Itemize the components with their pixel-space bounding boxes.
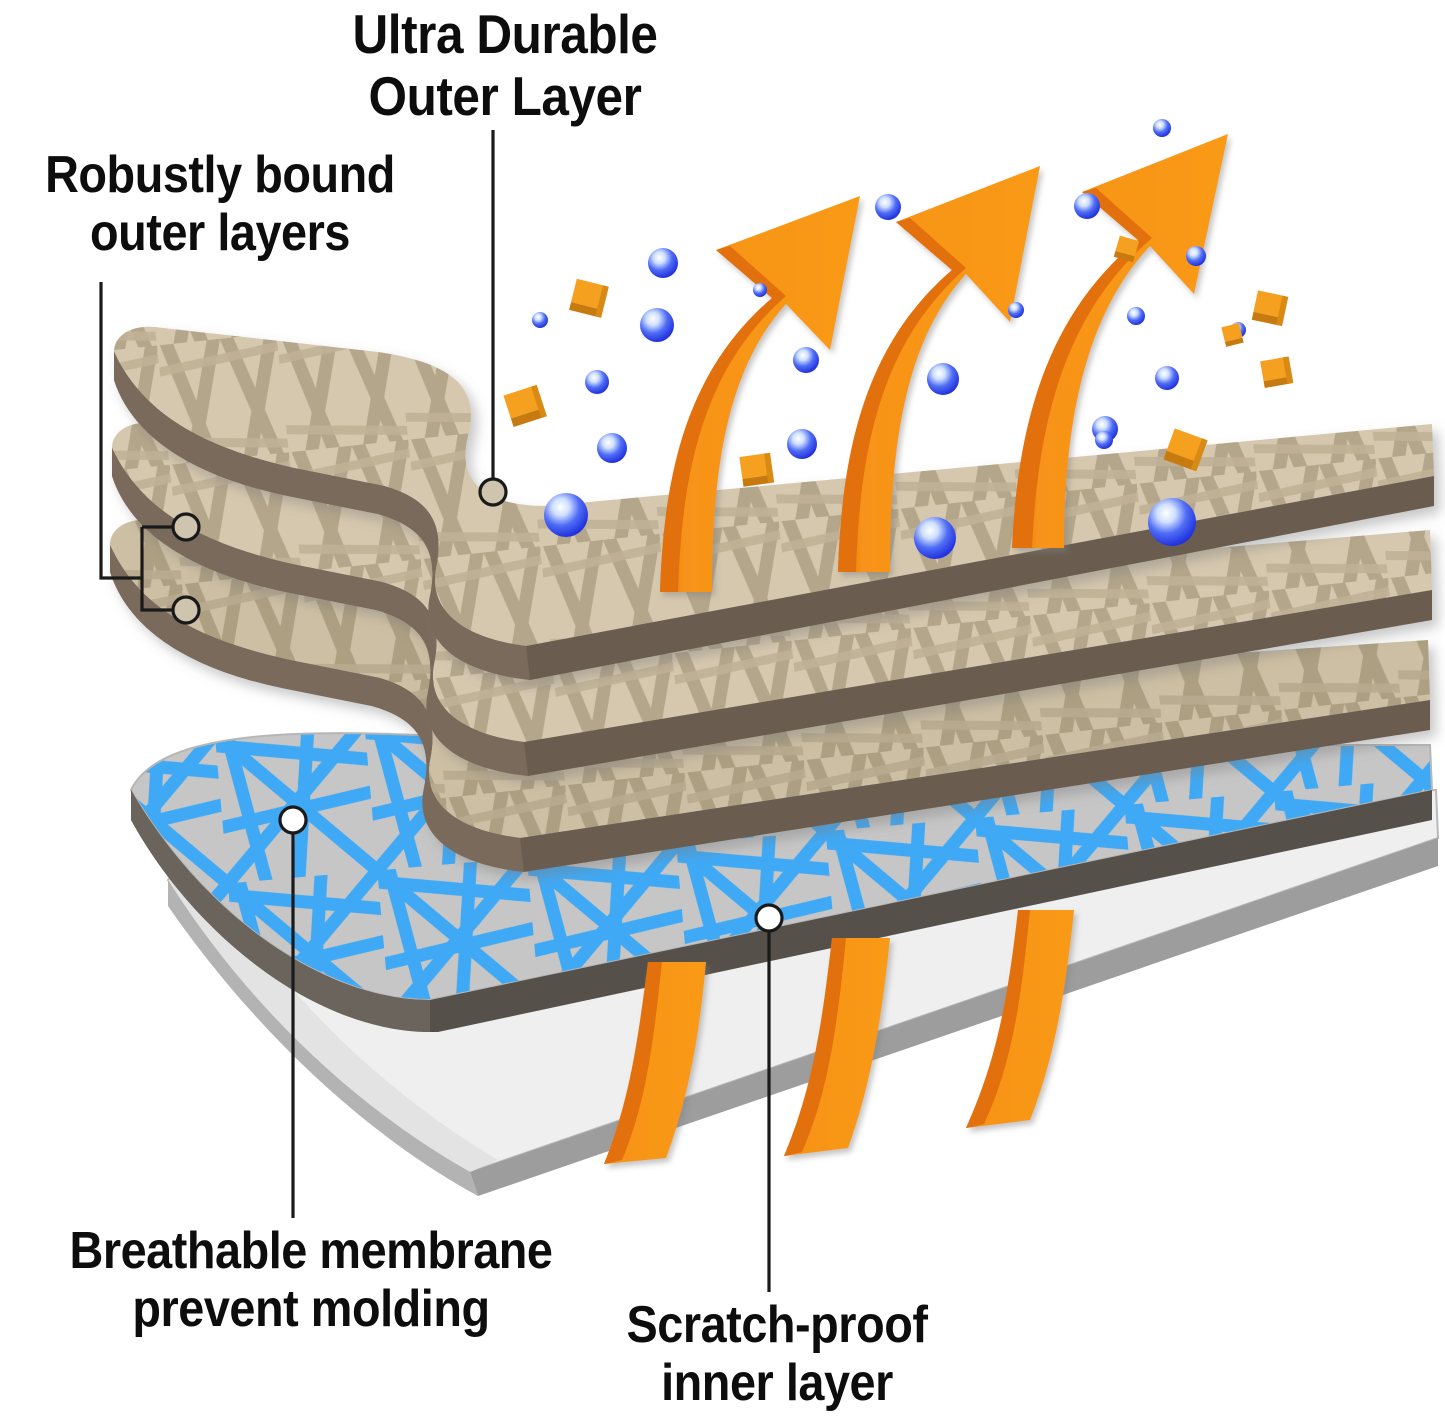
label-robustly-bound-outer-layers: Robustly bound outer layers [22,146,418,262]
marker-robust-top [173,514,199,540]
marker-outer-layer [480,479,506,505]
label-ultra-durable-outer-layer: Ultra Durable Outer Layer [321,4,690,127]
label-breathable-membrane: Breathable membrane prevent molding [28,1222,595,1338]
label-scratch-proof-inner-layer: Scratch-proof inner layer [593,1296,962,1412]
marker-robust-bottom [173,597,199,623]
marker-membrane [280,807,306,833]
diagram-canvas: Ultra Durable Outer Layer Robustly bound… [0,0,1445,1421]
marker-scratch [756,905,782,931]
